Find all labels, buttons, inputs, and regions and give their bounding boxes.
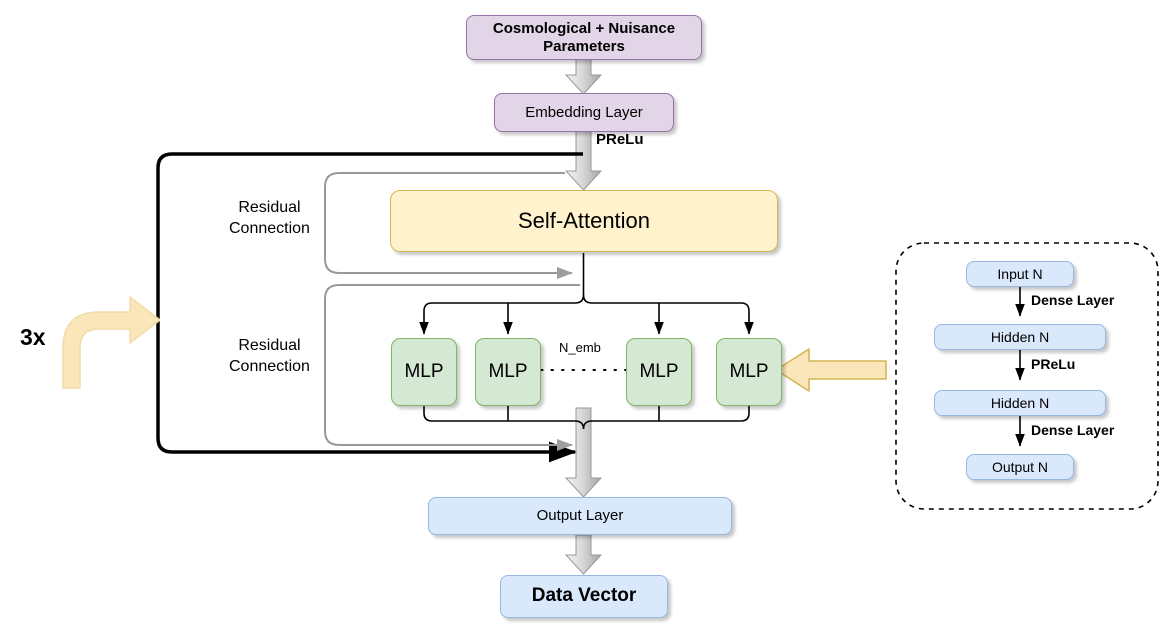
loop-arrow-icon [63,297,160,388]
detail-input-label: Input N [997,266,1042,283]
arrow-outputlayer-to-datavector [566,535,601,574]
mlp-block-1[interactable]: MLP [391,338,457,406]
embedding-layer-block[interactable]: Embedding Layer [494,93,674,132]
detail-edge-label-2: PReLu [1031,356,1075,372]
mlp-fanout-connectors [424,295,749,334]
output-layer-block[interactable]: Output Layer [428,497,732,535]
residual-connection-label-bottom: Residual Connection [229,336,310,378]
arrow-params-to-embedding [566,58,601,94]
mlp-block-4-label: MLP [729,361,768,384]
self-attention-label: Self-Attention [518,208,650,234]
mlp-block-2[interactable]: MLP [475,338,541,406]
output-layer-label: Output Layer [537,507,624,525]
detail-output-label: Output N [992,459,1048,476]
detail-hidden-block-2[interactable]: Hidden N [934,390,1106,416]
input-parameters-block[interactable]: Cosmological + Nuisance Parameters [466,15,702,60]
detail-output-block[interactable]: Output N [966,454,1074,480]
data-vector-label: Data Vector [532,585,637,608]
residual-connection-label-top: Residual Connection [229,198,310,240]
mlp-block-2-label: MLP [488,361,527,384]
detail-input-block[interactable]: Input N [966,261,1074,287]
mlp-block-1-label: MLP [404,361,443,384]
detail-edge-label-3: Dense Layer [1031,422,1114,438]
embedding-layer-label: Embedding Layer [525,104,643,122]
mlp-block-3[interactable]: MLP [626,338,692,406]
input-parameters-label: Cosmological + Nuisance Parameters [493,20,675,56]
repeat-count-label: 3x [20,324,46,351]
prelu-label-main: PReLu [596,131,644,148]
detail-hidden-label-2: Hidden N [991,395,1049,412]
detail-edge-label-1: Dense Layer [1031,292,1114,308]
n-emb-label: N_emb [559,340,601,355]
mlp-block-3-label: MLP [639,361,678,384]
detail-hidden-label-1: Hidden N [991,329,1049,346]
mlp-block-4[interactable]: MLP [716,338,782,406]
diagram-canvas: Cosmological + Nuisance Parameters Embed… [0,0,1170,636]
data-vector-block[interactable]: Data Vector [500,575,668,618]
self-attention-block[interactable]: Self-Attention [390,190,778,252]
detail-hidden-block-1[interactable]: Hidden N [934,324,1106,350]
arrow-detail-to-mlp [776,349,886,391]
